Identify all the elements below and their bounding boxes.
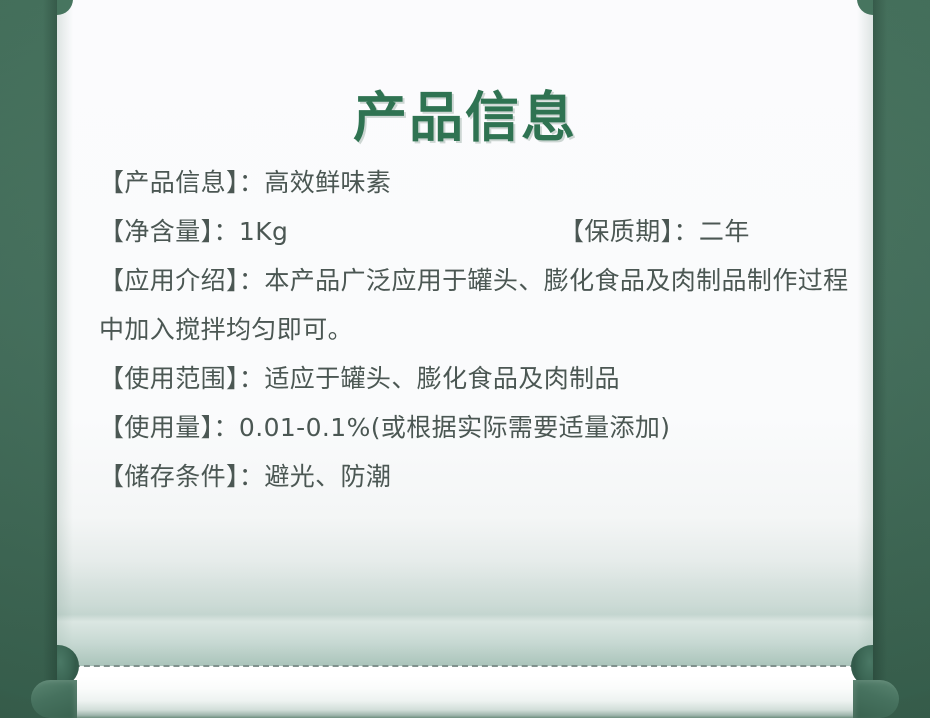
info-separator: ： (674, 217, 699, 246)
info-label-net-weight: 【净含量】 (99, 217, 214, 246)
product-info-page: 产品信息 【产品信息】：高效鲜味素 【净含量】：1Kg 【保质期】：二年 【应用… (0, 0, 930, 718)
info-row-shelf-life: 【保质期】：二年 (559, 207, 750, 256)
info-value-product-name: 高效鲜味素 (264, 168, 391, 197)
info-separator: ： (239, 364, 264, 393)
product-info-list: 【产品信息】：高效鲜味素 【净含量】：1Kg 【保质期】：二年 【应用介绍】：本… (99, 158, 859, 501)
info-label-usage-scope: 【使用范围】 (99, 364, 239, 393)
info-separator: ： (214, 413, 239, 442)
info-value-storage: 避光、防潮 (264, 462, 391, 491)
info-row-net-weight: 【净含量】：1Kg 【保质期】：二年 (99, 207, 859, 256)
info-label-shelf-life: 【保质期】 (559, 217, 674, 246)
info-label-storage: 【储存条件】 (99, 462, 239, 491)
info-row-usage-scope: 【使用范围】：适应于罐头、膨化食品及肉制品 (99, 354, 859, 403)
info-separator: ： (239, 462, 264, 491)
paper-shadow-left (43, 0, 57, 718)
page-title: 产品信息 (57, 83, 873, 153)
info-label-dosage: 【使用量】 (99, 413, 214, 442)
info-value-usage-scope: 适应于罐头、膨化食品及肉制品 (264, 364, 620, 393)
info-separator: ： (239, 168, 264, 197)
info-row-product-name: 【产品信息】：高效鲜味素 (99, 158, 859, 207)
info-value-net-weight: 1Kg (239, 217, 288, 246)
info-separator: ： (239, 266, 264, 295)
info-label-application: 【应用介绍】 (99, 266, 239, 295)
info-row-dosage: 【使用量】：0.01-0.1%(或根据实际需要适量添加) (99, 403, 859, 452)
info-label-product-name: 【产品信息】 (99, 168, 239, 197)
info-value-dosage: 0.01-0.1%(或根据实际需要适量添加) (239, 413, 671, 442)
info-value-shelf-life: 二年 (699, 217, 750, 246)
info-separator: ： (214, 217, 239, 246)
info-row-storage: 【储存条件】：避光、防潮 (99, 452, 859, 501)
paper-shadow-right (873, 0, 887, 718)
info-row-application: 【应用介绍】：本产品广泛应用于罐头、膨化食品及肉制品制作过程中加入搅拌均匀即可。 (99, 256, 859, 354)
